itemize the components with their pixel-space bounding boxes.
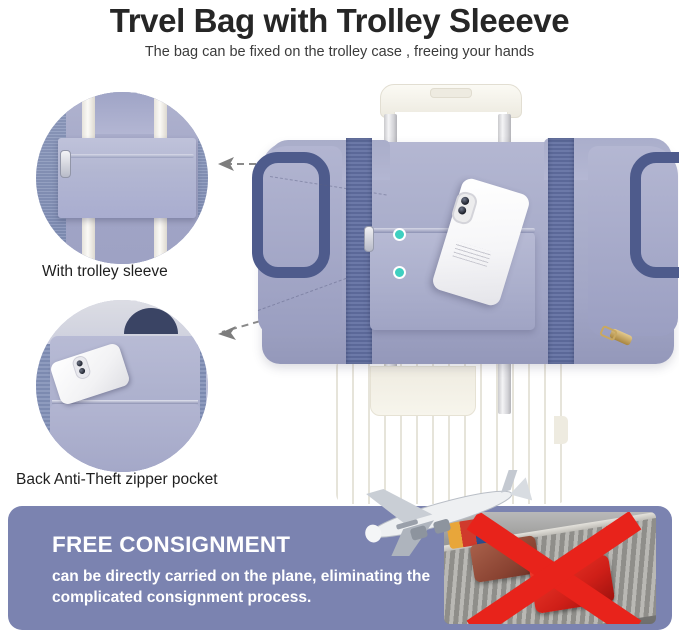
banner-title: FREE CONSIGNMENT bbox=[52, 532, 290, 558]
feature-caption-trolley-sleeve: With trolley sleeve bbox=[42, 262, 168, 281]
shoulder-strap-loop-left bbox=[252, 152, 330, 278]
airplane-icon bbox=[336, 470, 532, 556]
carry-handle-webbing-right bbox=[548, 138, 574, 364]
suitcase-side-foot bbox=[554, 416, 568, 444]
sleeve-pocket bbox=[58, 138, 196, 218]
header: Trvel Bag with Trolley Sleeeve The bag c… bbox=[0, 0, 679, 66]
trolley-handle-notch bbox=[430, 88, 472, 98]
trolley-handle-opening bbox=[394, 112, 508, 134]
feature-marker-dot bbox=[393, 228, 406, 241]
feature-photo-anti-theft-pocket bbox=[36, 300, 208, 472]
page-title: Trvel Bag with Trolley Sleeeve bbox=[0, 0, 679, 40]
suitcase-handle-base bbox=[370, 366, 476, 416]
sleeve-zipper-pull-icon bbox=[60, 150, 71, 178]
page-subtitle: The bag can be fixed on the trolley case… bbox=[0, 40, 679, 61]
shoulder-strap-loop-right bbox=[630, 152, 679, 278]
pocket-photo-upper-area bbox=[36, 300, 208, 340]
banner-body-text: can be directly carried on the plane, el… bbox=[52, 566, 452, 608]
pocket-front-flap bbox=[50, 404, 200, 472]
feature-caption-anti-theft-pocket: Back Anti-Theft zipper pocket bbox=[16, 470, 218, 489]
front-pocket-zipper-pull-icon bbox=[364, 226, 374, 252]
feature-photo-trolley-sleeve bbox=[36, 92, 208, 264]
feature-marker-dot bbox=[393, 266, 406, 279]
sleeve-top-flap bbox=[88, 92, 164, 134]
sleeve-zipper-track bbox=[62, 154, 194, 158]
hero-product-photo bbox=[258, 80, 679, 505]
